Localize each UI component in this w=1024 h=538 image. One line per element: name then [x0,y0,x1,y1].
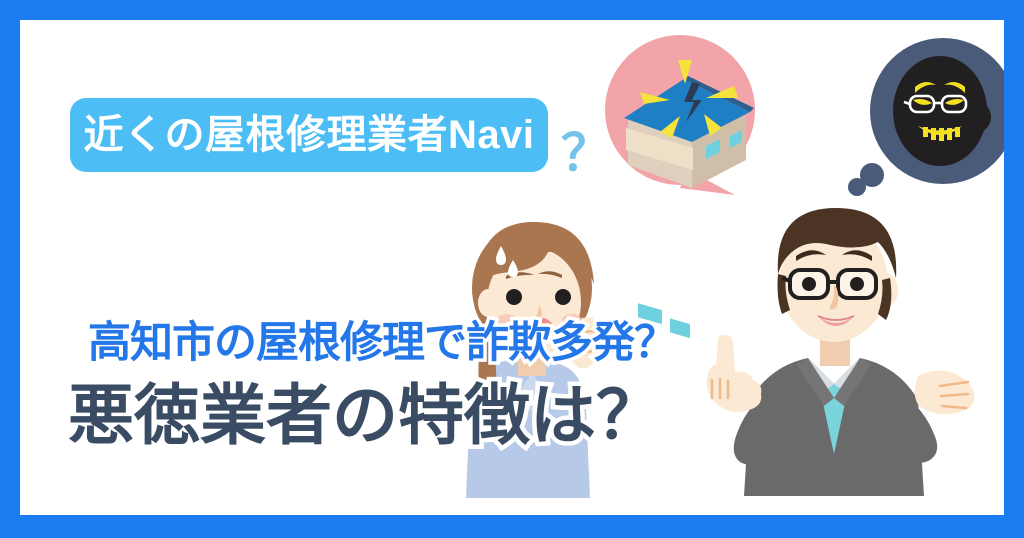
site-name-label: 近くの屋根修理業者Navi [84,115,535,155]
damaged-house-speech-bubble [605,35,755,338]
site-name-badge[interactable]: 近くの屋根修理業者Navi [70,98,548,172]
headline-title: 悪徳業者の特徴は？ [68,382,662,448]
headline-subtitle: 高知市の屋根修理で詐欺多発？ [88,322,676,365]
question-mark-decoration: ？ [561,128,611,178]
image-frame: 近くの屋根修理業者Navi ？ 高知市の屋根修理で詐欺多発？ 悪徳業者の特徴は？ [0,0,1024,538]
pointing-businessman-character [707,208,975,496]
shady-contractor-thought-bubble [848,38,1004,196]
image-canvas: 近くの屋根修理業者Navi ？ 高知市の屋根修理で詐欺多発？ 悪徳業者の特徴は？ [20,20,1004,515]
